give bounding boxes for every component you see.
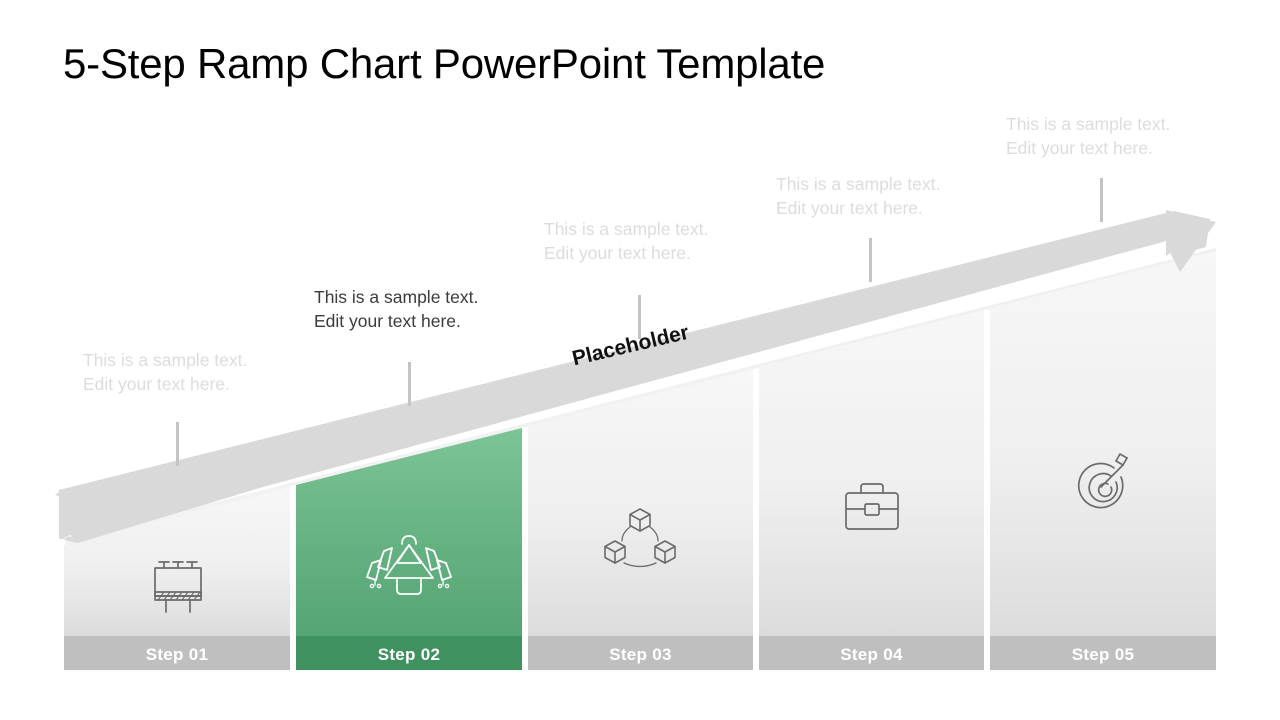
slide-canvas: 5-Step Ramp Chart PowerPoint Template (0, 0, 1280, 720)
step-caption-3: This is a sample text. Edit your text he… (544, 217, 708, 265)
step-caption-5: This is a sample text. Edit your text he… (1006, 112, 1170, 160)
step-label-3[interactable]: Step 03 (528, 645, 753, 665)
step-caption-1-line2: Edit your text here. (83, 372, 247, 396)
connector-tick-2 (408, 362, 411, 406)
step-label-1[interactable]: Step 01 (64, 645, 290, 665)
step-label-4[interactable]: Step 04 (759, 645, 984, 665)
step-caption-1-line1: This is a sample text. (83, 350, 247, 370)
connector-tick-1 (176, 422, 179, 466)
step-caption-3-line1: This is a sample text. (544, 219, 708, 239)
step-caption-1: This is a sample text. Edit your text he… (83, 348, 247, 396)
step-label-2[interactable]: Step 02 (296, 645, 522, 665)
step-column-4[interactable] (759, 310, 984, 670)
step-caption-5-line1: This is a sample text. (1006, 114, 1170, 134)
connector-tick-5 (1100, 178, 1103, 222)
step-label-5[interactable]: Step 05 (990, 645, 1216, 665)
step-caption-2-line1: This is a sample text. (314, 287, 478, 307)
step-caption-4: This is a sample text. Edit your text he… (776, 172, 940, 220)
connector-tick-3 (638, 295, 641, 339)
step-caption-3-line2: Edit your text here. (544, 241, 708, 265)
step-column-5[interactable] (990, 251, 1216, 670)
step-caption-2: This is a sample text. Edit your text he… (314, 285, 478, 333)
step-caption-4-line1: This is a sample text. (776, 174, 940, 194)
connector-tick-4 (869, 238, 872, 282)
step-caption-2-line2: Edit your text here. (314, 309, 478, 333)
step-caption-5-line2: Edit your text here. (1006, 136, 1170, 160)
step-caption-4-line2: Edit your text here. (776, 196, 940, 220)
